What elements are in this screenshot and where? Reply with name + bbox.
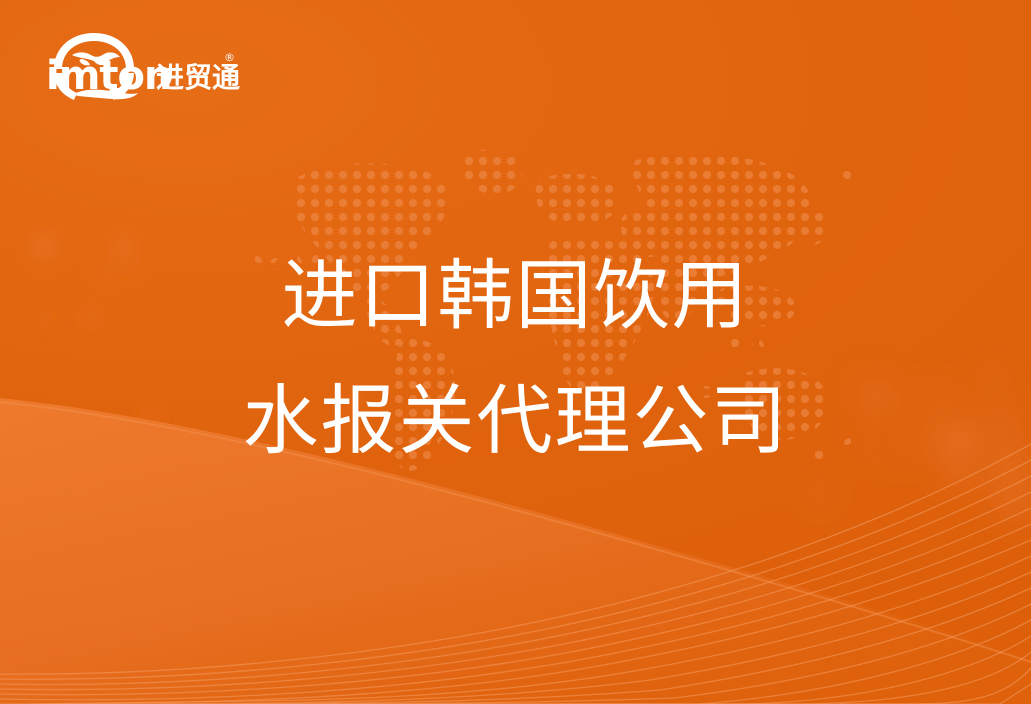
logo-wordmark: imton bbox=[46, 53, 171, 99]
imton-logo-mark: imton 进贸通 ® bbox=[38, 27, 228, 105]
promo-banner: imton 进贸通 ® 进口韩国饮用 水报关代理公司 bbox=[0, 0, 1031, 704]
page-title: 进口韩国饮用 水报关代理公司 bbox=[0, 258, 1031, 459]
logo-chinese-name: 进贸通 bbox=[156, 61, 240, 94]
headline-line-1: 进口韩国饮用 bbox=[0, 258, 1031, 334]
headline-line-2: 水报关代理公司 bbox=[0, 383, 1031, 459]
brand-logo[interactable]: imton 进贸通 ® bbox=[38, 27, 228, 105]
registered-trademark-icon: ® bbox=[224, 51, 235, 64]
